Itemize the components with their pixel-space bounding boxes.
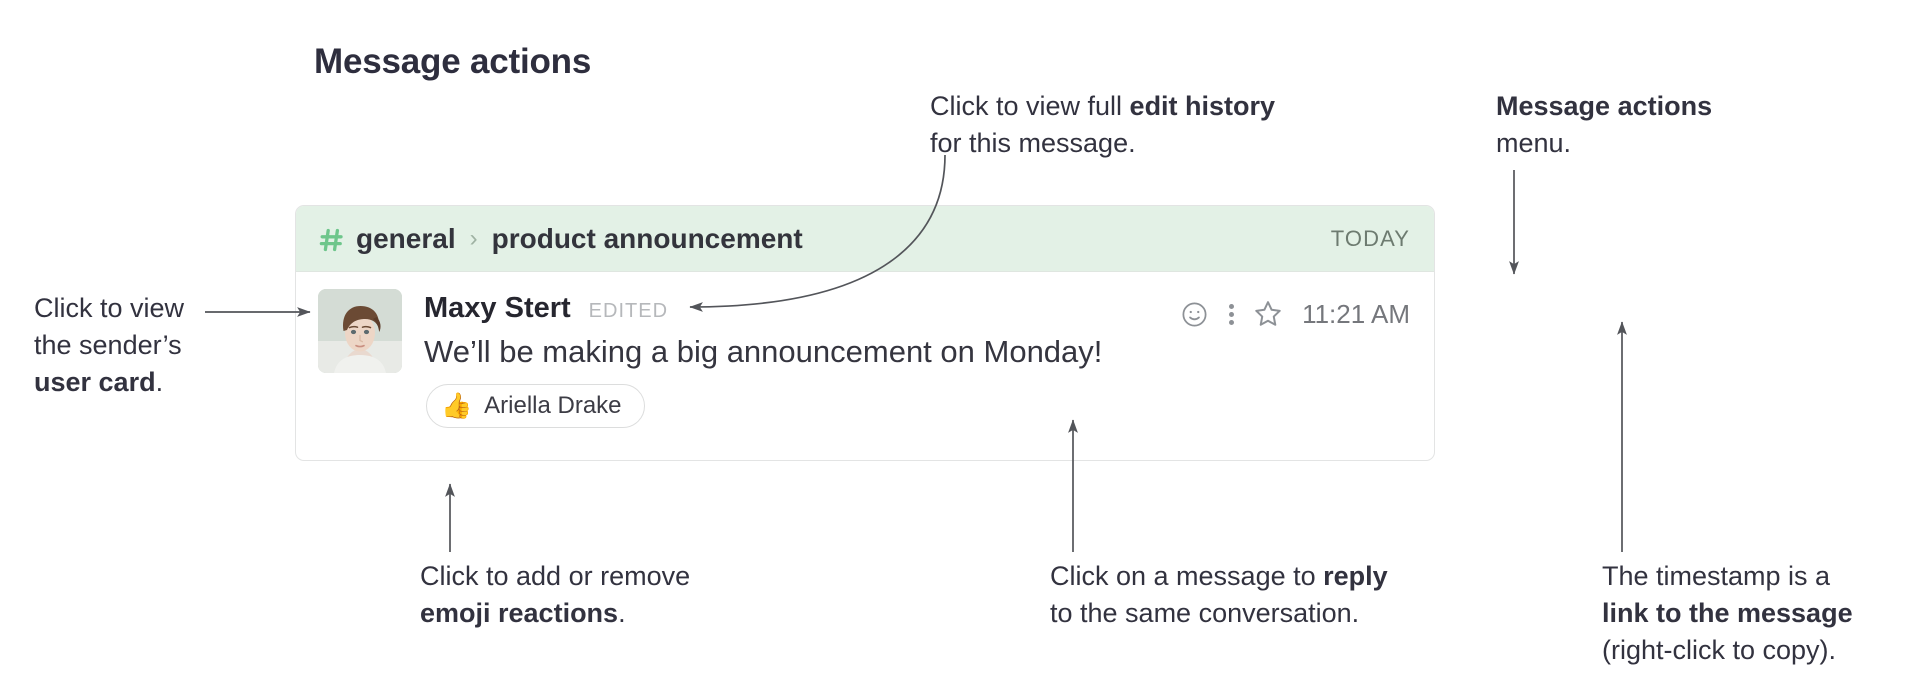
annotation-emoji-reactions-emphasis: emoji reactions bbox=[420, 598, 618, 628]
annotation-timestamp-link-emphasis: link to the message bbox=[1602, 598, 1853, 628]
breadcrumb-separator-icon: › bbox=[470, 225, 478, 253]
annotation-edit-history: Click to view full edit history for this… bbox=[930, 88, 1370, 162]
hash-icon bbox=[318, 226, 346, 254]
day-label: TODAY bbox=[1331, 226, 1410, 252]
message-timestamp-link[interactable]: 11:21 AM bbox=[1302, 299, 1410, 330]
reaction-user-name: Ariella Drake bbox=[484, 392, 621, 420]
annotation-edit-history-lead: Click to view full bbox=[930, 91, 1130, 121]
annotation-user-card-tail: . bbox=[156, 367, 164, 397]
annotation-reply: Click on a message to reply to the same … bbox=[1050, 558, 1470, 632]
annotation-actions-menu: Message actions menu. bbox=[1496, 88, 1796, 162]
message-card: general › product announcement TODAY bbox=[295, 205, 1435, 461]
kebab-dot bbox=[1229, 320, 1234, 325]
annotation-timestamp-link-tail: (right-click to copy). bbox=[1602, 635, 1836, 665]
topic-name[interactable]: product announcement bbox=[492, 223, 803, 255]
annotation-emoji-reactions-lead: Click to add or remove bbox=[420, 561, 690, 591]
annotation-reply-lead: Click on a message to bbox=[1050, 561, 1323, 591]
edited-badge[interactable]: EDITED bbox=[589, 300, 668, 323]
annotation-timestamp-link: The timestamp is a link to the message (… bbox=[1602, 558, 1912, 669]
annotation-edit-history-emphasis: edit history bbox=[1130, 91, 1276, 121]
annotation-reply-tail: to the same conversation. bbox=[1050, 598, 1359, 628]
annotation-edit-history-tail: for this message. bbox=[930, 128, 1136, 158]
message-actions-menu-icon[interactable] bbox=[1216, 294, 1246, 334]
annotation-emoji-reactions: Click to add or remove emoji reactions. bbox=[420, 558, 800, 632]
kebab-dot bbox=[1229, 304, 1234, 309]
message-row[interactable]: Maxy Stert EDITED We’ll be making a big … bbox=[296, 272, 1434, 461]
page-title: Message actions bbox=[314, 42, 591, 82]
annotation-user-card-lead: Click to view the sender’s bbox=[34, 293, 184, 360]
reaction-pill[interactable]: 👍 Ariella Drake bbox=[426, 384, 645, 428]
avatar[interactable] bbox=[318, 289, 402, 373]
add-reaction-icon[interactable] bbox=[1172, 294, 1216, 334]
star-message-icon[interactable] bbox=[1246, 294, 1290, 334]
annotation-user-card: Click to view the sender’s user card. bbox=[34, 290, 264, 401]
annotation-actions-menu-tail: menu. bbox=[1496, 128, 1571, 158]
annotation-timestamp-link-lead: The timestamp is a bbox=[1602, 561, 1830, 591]
kebab-dot bbox=[1229, 312, 1234, 317]
annotation-user-card-emphasis: user card bbox=[34, 367, 156, 397]
message-action-icons: 11:21 AM bbox=[1172, 294, 1410, 334]
sender-name[interactable]: Maxy Stert bbox=[424, 292, 571, 325]
channel-header-bar: general › product announcement TODAY bbox=[296, 206, 1434, 272]
annotation-emoji-reactions-tail: . bbox=[618, 598, 626, 628]
annotation-reply-emphasis: reply bbox=[1323, 561, 1388, 591]
sender-line: Maxy Stert EDITED bbox=[424, 292, 668, 325]
message-body-text[interactable]: We’ll be making a big announcement on Mo… bbox=[424, 334, 1102, 370]
channel-name[interactable]: general bbox=[356, 223, 456, 255]
annotation-actions-menu-emphasis: Message actions bbox=[1496, 91, 1712, 121]
thumbs-up-emoji: 👍 bbox=[441, 394, 472, 419]
